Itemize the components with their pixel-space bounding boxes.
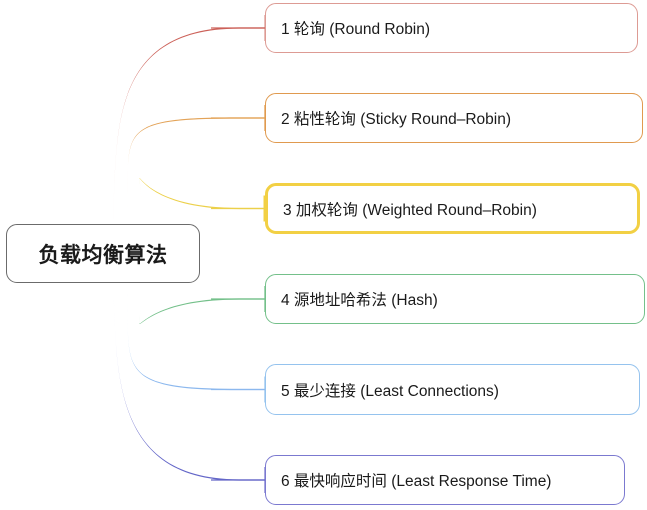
child-node-label-6: 6 最快响应时间 (Least Response Time) — [266, 469, 551, 491]
child-node-label-1: 1 轮询 (Round Robin) — [266, 17, 430, 39]
connector-curve-4 — [139, 276, 265, 324]
root-node-label: 负载均衡算法 — [39, 239, 168, 269]
child-node-6[interactable]: 6 最快响应时间 (Least Response Time) — [265, 455, 625, 505]
child-node-label-2: 2 粘性轮询 (Sticky Round–Robin) — [266, 107, 511, 129]
child-node-5[interactable]: 5 最少连接 (Least Connections) — [265, 364, 640, 415]
child-node-2[interactable]: 2 粘性轮询 (Sticky Round–Robin) — [265, 93, 643, 143]
child-node-label-3: 3 加权轮询 (Weighted Round–Robin) — [268, 198, 537, 220]
child-node-label-4: 4 源地址哈希法 (Hash) — [266, 288, 438, 310]
child-node-label-5: 5 最少连接 (Least Connections) — [266, 379, 499, 401]
connector-curve-3 — [139, 178, 265, 221]
child-node-1[interactable]: 1 轮询 (Round Robin) — [265, 3, 638, 53]
connector-curve-5 — [127, 276, 265, 390]
connector-curve-1 — [113, 27, 265, 221]
child-node-3[interactable]: 3 加权轮询 (Weighted Round–Robin) — [265, 183, 640, 234]
connector-curve-6 — [113, 276, 265, 480]
root-node[interactable]: 负载均衡算法 — [6, 224, 200, 283]
mindmap-canvas: 负载均衡算法 1 轮询 (Round Robin)2 粘性轮询 (Sticky … — [0, 0, 647, 510]
child-node-4[interactable]: 4 源地址哈希法 (Hash) — [265, 274, 645, 324]
